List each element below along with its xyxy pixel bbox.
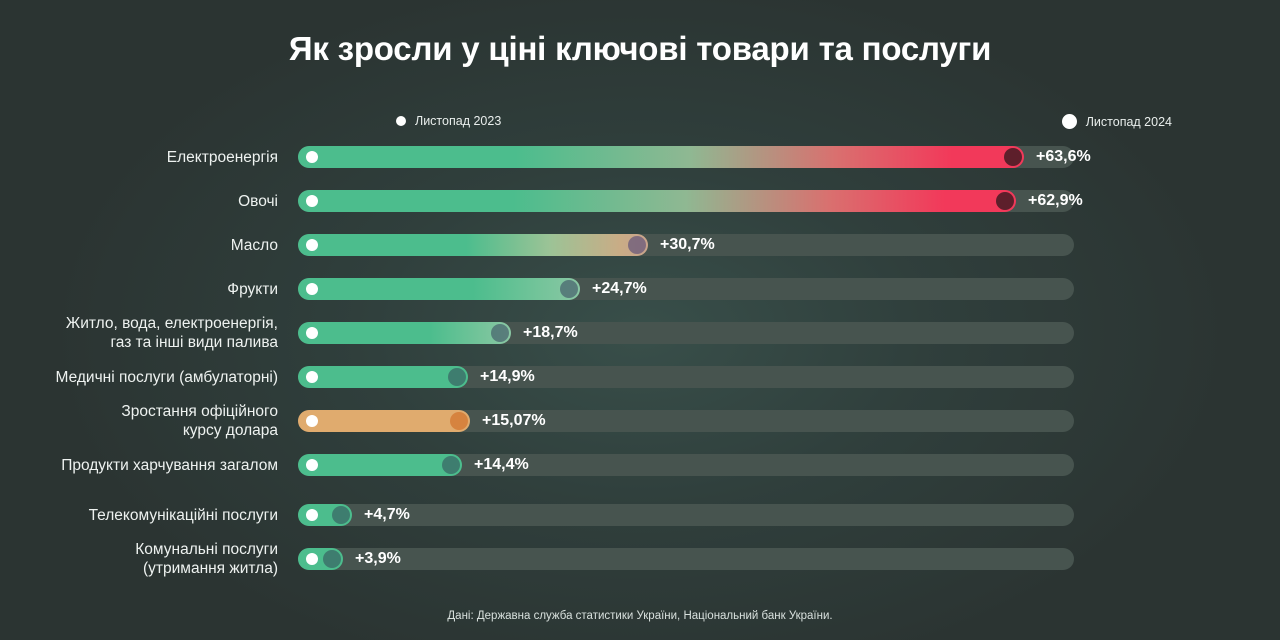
- marker-dot-2024: [1004, 148, 1022, 166]
- bar-area: +24,7%: [298, 272, 1074, 306]
- bar-area: +14,9%: [298, 360, 1074, 394]
- bar-value-label: +24,7%: [592, 279, 647, 299]
- chart-row: Житло, вода, електроенергія, газ та інші…: [0, 316, 1280, 350]
- bar-value-label: +14,9%: [480, 367, 535, 387]
- bar-area: +4,7%: [298, 498, 1074, 532]
- legend-item-2023: Листопад 2023: [396, 114, 501, 134]
- bar-area: +18,7%: [298, 316, 1074, 350]
- row-label: Фрукти: [0, 280, 278, 299]
- marker-dot-2024: [450, 412, 468, 430]
- marker-dot-2024: [628, 236, 646, 254]
- chart-row: Масло+30,7%: [0, 228, 1280, 262]
- bar-area: +14,4%: [298, 448, 1074, 482]
- chart-row: Комунальні послуги (утримання житла)+3,9…: [0, 542, 1280, 576]
- marker-dot-2023: [306, 239, 318, 251]
- bar-value-label: +30,7%: [660, 235, 715, 255]
- bar-fill: [298, 366, 468, 388]
- legend-item-2024: Листопад 2024: [1062, 114, 1172, 134]
- chart-row: Зростання офіційного курсу долара+15,07%: [0, 404, 1280, 438]
- chart-row: Фрукти+24,7%: [0, 272, 1280, 306]
- marker-dot-2024: [996, 192, 1014, 210]
- marker-dot-2024: [332, 506, 350, 524]
- row-label: Телекомунікаційні послуги: [0, 506, 278, 525]
- bar-area: +3,9%: [298, 542, 1074, 576]
- legend-dot-icon-2024: [1062, 114, 1077, 129]
- infographic-root: Як зросли у ціні ключові товари та послу…: [0, 0, 1280, 640]
- marker-dot-2023: [306, 327, 318, 339]
- bar-area: +63,6%: [298, 140, 1074, 174]
- legend-dot-icon-2023: [396, 116, 406, 126]
- bar-value-label: +4,7%: [364, 505, 410, 525]
- bar-area: +30,7%: [298, 228, 1074, 262]
- source-note: Дані: Державна служба статистики України…: [0, 610, 1280, 622]
- bar-fill: [298, 190, 1016, 212]
- bar-fill: [298, 234, 648, 256]
- bar-fill: [298, 322, 511, 344]
- legend-label-2023: Листопад 2023: [415, 114, 501, 128]
- page-title: Як зросли у ціні ключові товари та послу…: [0, 30, 1280, 68]
- row-label: Зростання офіційного курсу долара: [0, 402, 278, 440]
- row-label: Масло: [0, 236, 278, 255]
- bar-value-label: +18,7%: [523, 323, 578, 343]
- legend-label-2024: Листопад 2024: [1086, 115, 1172, 129]
- bar-fill: [298, 454, 462, 476]
- row-label: Житло, вода, електроенергія, газ та інші…: [0, 314, 278, 352]
- marker-dot-2023: [306, 371, 318, 383]
- chart-row: Електроенергія+63,6%: [0, 140, 1280, 174]
- chart-row: Овочі+62,9%: [0, 184, 1280, 218]
- marker-dot-2024: [442, 456, 460, 474]
- marker-dot-2023: [306, 509, 318, 521]
- marker-dot-2024: [491, 324, 509, 342]
- bar-area: +15,07%: [298, 404, 1074, 438]
- chart-row: Медичні послуги (амбулаторні)+14,9%: [0, 360, 1280, 394]
- chart-row: Продукти харчування загалом+14,4%: [0, 448, 1280, 482]
- bar-fill: [298, 278, 580, 300]
- marker-dot-2023: [306, 459, 318, 471]
- bar-fill: [298, 410, 470, 432]
- row-label: Овочі: [0, 192, 278, 211]
- marker-dot-2023: [306, 195, 318, 207]
- bar-track: [298, 504, 1074, 526]
- bar-track: [298, 548, 1074, 570]
- marker-dot-2023: [306, 553, 318, 565]
- row-label: Електроенергія: [0, 148, 278, 167]
- bar-value-label: +63,6%: [1036, 147, 1091, 167]
- marker-dot-2024: [448, 368, 466, 386]
- bar-area: +62,9%: [298, 184, 1074, 218]
- bar-value-label: +14,4%: [474, 455, 529, 475]
- chart-row: Телекомунікаційні послуги+4,7%: [0, 498, 1280, 532]
- marker-dot-2024: [560, 280, 578, 298]
- marker-dot-2023: [306, 283, 318, 295]
- row-label: Комунальні послуги (утримання житла): [0, 540, 278, 578]
- bar-value-label: +3,9%: [355, 549, 401, 569]
- bar-fill: [298, 146, 1024, 168]
- marker-dot-2023: [306, 151, 318, 163]
- row-label: Продукти харчування загалом: [0, 456, 278, 475]
- bar-value-label: +15,07%: [482, 411, 546, 431]
- row-label: Медичні послуги (амбулаторні): [0, 368, 278, 387]
- bar-value-label: +62,9%: [1028, 191, 1083, 211]
- marker-dot-2024: [323, 550, 341, 568]
- marker-dot-2023: [306, 415, 318, 427]
